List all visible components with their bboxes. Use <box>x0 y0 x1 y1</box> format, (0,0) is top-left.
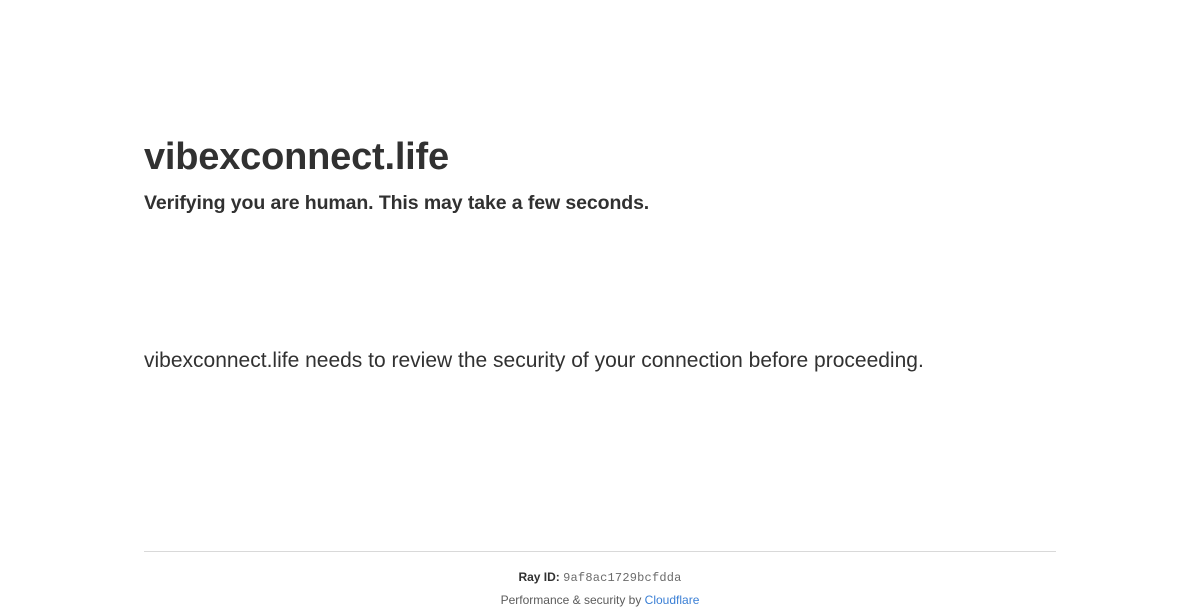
page-title: vibexconnect.life <box>144 0 1056 181</box>
ray-id-value: 9af8ac1729bcfdda <box>563 571 681 585</box>
ray-id-label: Ray ID: <box>518 570 559 584</box>
footer: Ray ID: 9af8ac1729bcfdda Performance & s… <box>144 552 1056 607</box>
challenge-page: vibexconnect.life Verifying you are huma… <box>0 0 1200 600</box>
attribution-line: Performance & security by Cloudflare <box>144 585 1056 607</box>
challenge-widget-slot[interactable] <box>144 252 444 317</box>
cloudflare-link[interactable]: Cloudflare <box>645 593 700 607</box>
content-column: vibexconnect.life Verifying you are huma… <box>144 0 1056 379</box>
verification-status-text: Verifying you are human. This may take a… <box>144 181 1056 216</box>
attribution-prefix: Performance & security by <box>501 593 645 607</box>
security-review-message: vibexconnect.life needs to review the se… <box>144 317 944 379</box>
ray-id-line: Ray ID: 9af8ac1729bcfdda <box>144 552 1056 585</box>
